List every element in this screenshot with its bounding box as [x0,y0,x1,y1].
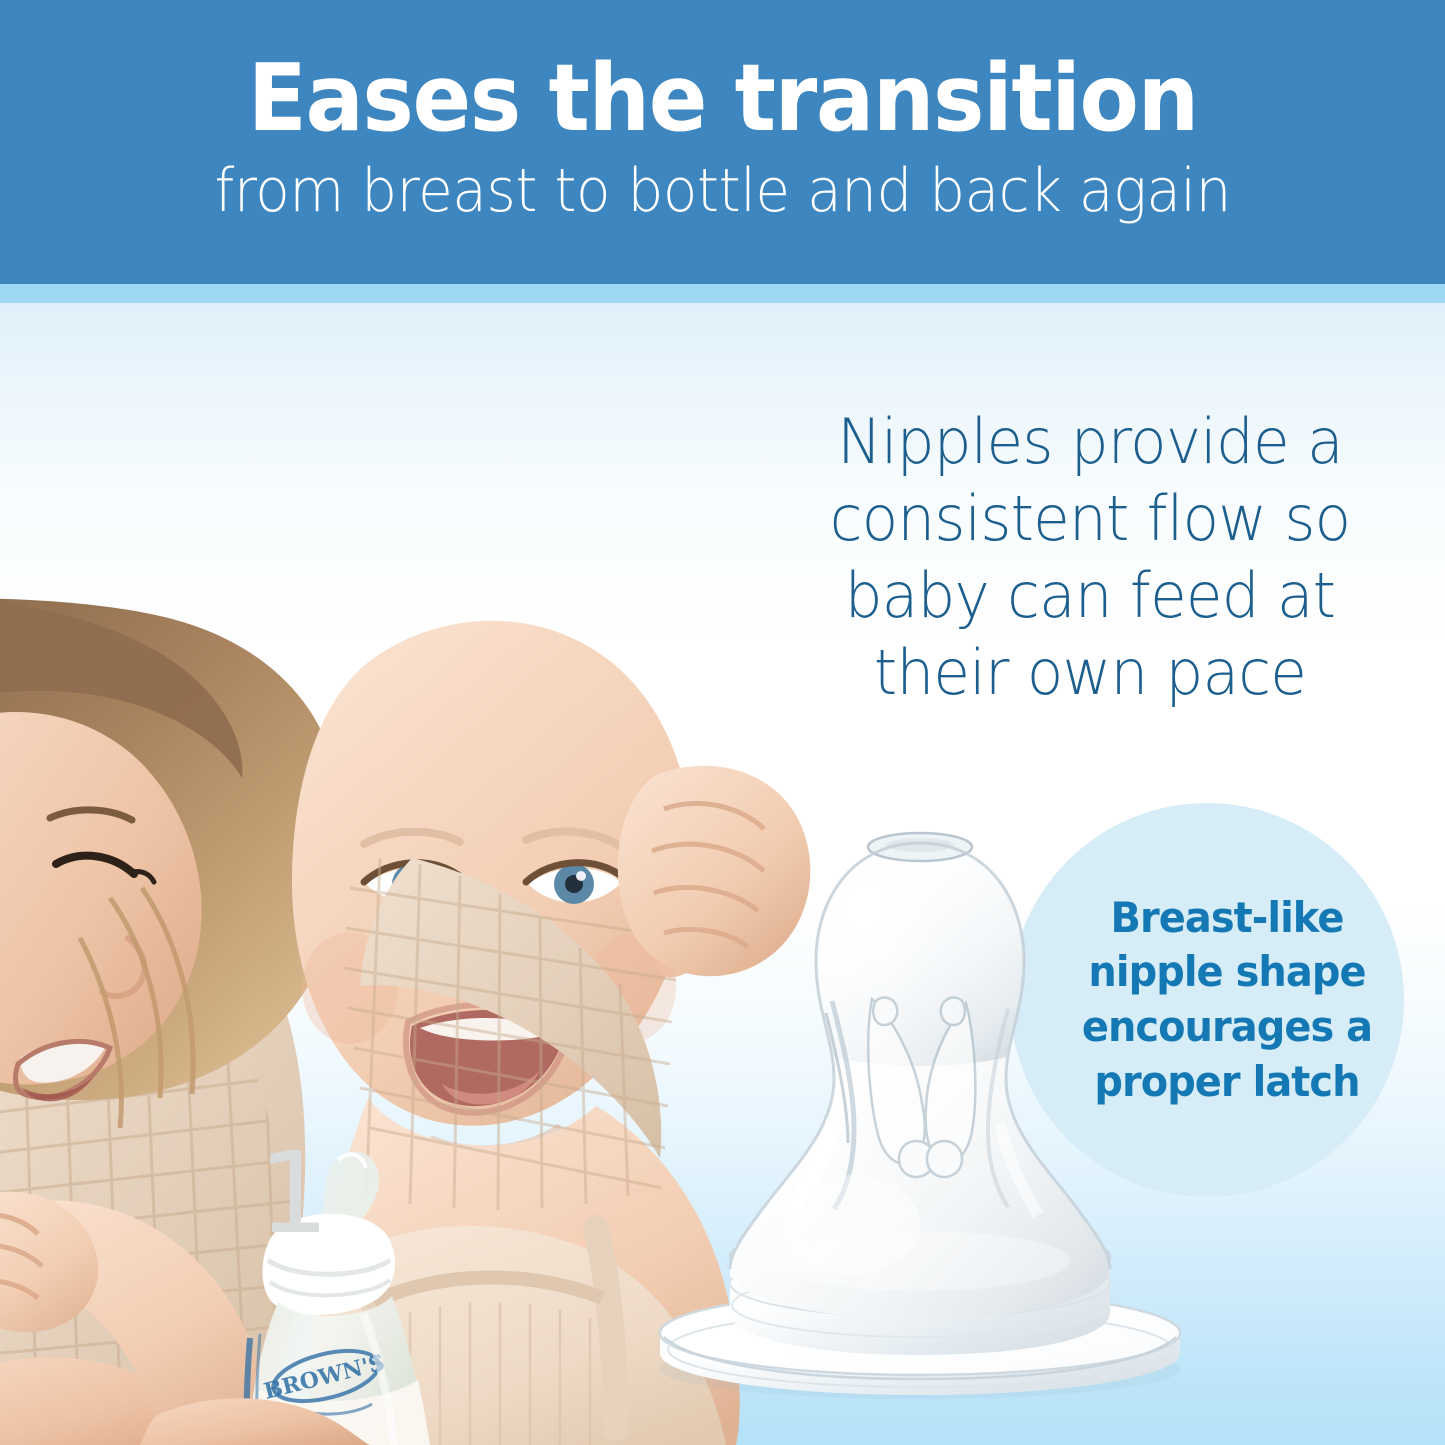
header-banner: Eases the transition from breast to bott… [0,0,1445,284]
feature-headline-line-3: baby can feed at [792,558,1387,635]
feature-headline-line-1: Nipples provide a [792,404,1387,481]
header-title: Eases the transition [247,52,1197,145]
product-nipple-image [620,813,1220,1433]
feature-headline-line-2: consistent flow so [792,481,1387,558]
header-divider-rule [0,284,1445,303]
nipple-flow-level-number: 1 [258,1138,329,1250]
product-feature-poster: Eases the transition from breast to bott… [0,0,1445,1445]
feature-headline: Nipples provide a consistent flow so bab… [792,404,1387,712]
feature-headline-line-4: their own pace [792,635,1387,712]
header-subtitle: from breast to bottle and back again [214,161,1230,221]
content-stage: Nipples provide a consistent flow so bab… [0,303,1445,1445]
